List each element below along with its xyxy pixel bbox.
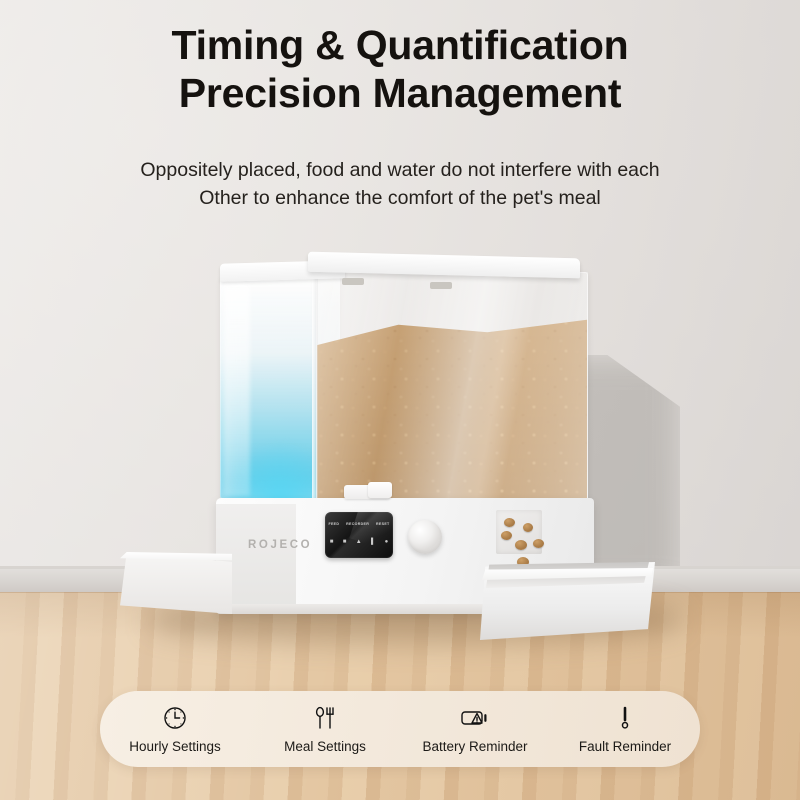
subhead-line-2: Other to enhance the comfort of the pet'… (0, 184, 800, 212)
lid-clip (342, 278, 364, 285)
feature-fault-reminder[interactable]: Fault Reminder (550, 705, 700, 754)
panel-icon-row: ■ ■ ▲ ▌ ● (325, 539, 393, 545)
food-dispenser-chute (496, 510, 542, 554)
control-panel[interactable]: FEED RECORDER RESET ■ ■ ▲ ▌ ● (325, 512, 393, 558)
pet-feeder-device: ROJECO FEED RECORDER RESET ■ ■ ▲ ▌ ● (120, 252, 660, 642)
feature-battery-reminder[interactable]: Battery Reminder (400, 705, 550, 754)
kibble-pellet (515, 540, 527, 550)
control-knob[interactable] (408, 520, 442, 554)
lock-icon[interactable]: ■ (343, 539, 347, 545)
brand-logo: ROJECO (248, 539, 312, 551)
kibble-shading (316, 319, 588, 504)
kibble-pellet (533, 539, 544, 548)
feature-label: Battery Reminder (422, 739, 527, 754)
lid-latch-tab[interactable] (368, 482, 392, 498)
feature-bar: Hourly Settings Meal Settings Battery Re (100, 691, 700, 767)
kibble-pellet (523, 523, 533, 532)
hand-icon[interactable]: ■ (330, 539, 334, 545)
exclamation-icon (617, 705, 633, 731)
page-title: Timing & Quantification Precision Manage… (0, 22, 800, 118)
power-icon[interactable]: ● (385, 539, 389, 545)
panel-label-row: FEED RECORDER RESET (325, 522, 393, 526)
battery-icon[interactable]: ▌ (371, 539, 375, 545)
battery-warning-icon (460, 705, 490, 731)
page-subtitle: Oppositely placed, food and water do not… (0, 156, 800, 213)
tank-divider-edge (312, 272, 318, 504)
feature-label: Fault Reminder (579, 739, 671, 754)
panel-label-feed: FEED (328, 522, 339, 526)
feature-hourly-settings[interactable]: Hourly Settings (100, 705, 250, 754)
product-scene: ROJECO FEED RECORDER RESET ■ ■ ▲ ▌ ● (0, 0, 800, 800)
water-tray (120, 552, 232, 614)
water-tank-highlight (224, 282, 250, 496)
lid-clip (430, 282, 452, 289)
kibble-pellet (501, 531, 512, 540)
panel-sheen (349, 512, 393, 552)
headline-line-1: Timing & Quantification (0, 22, 800, 70)
feature-meal-settings[interactable]: Meal Settings (250, 705, 400, 754)
feature-label: Hourly Settings (129, 739, 221, 754)
feature-label: Meal Settings (284, 739, 366, 754)
spoon-fork-icon (312, 705, 338, 731)
clock-icon (162, 705, 188, 731)
wifi-icon[interactable]: ▲ (356, 539, 362, 545)
panel-label-reset: RESET (376, 522, 389, 526)
panel-label-recorder: RECORDER (346, 522, 369, 526)
subhead-line-1: Oppositely placed, food and water do not… (0, 156, 800, 184)
headline-line-2: Precision Management (0, 70, 800, 118)
kibble-pellet (504, 518, 515, 527)
food-hopper (316, 272, 588, 504)
